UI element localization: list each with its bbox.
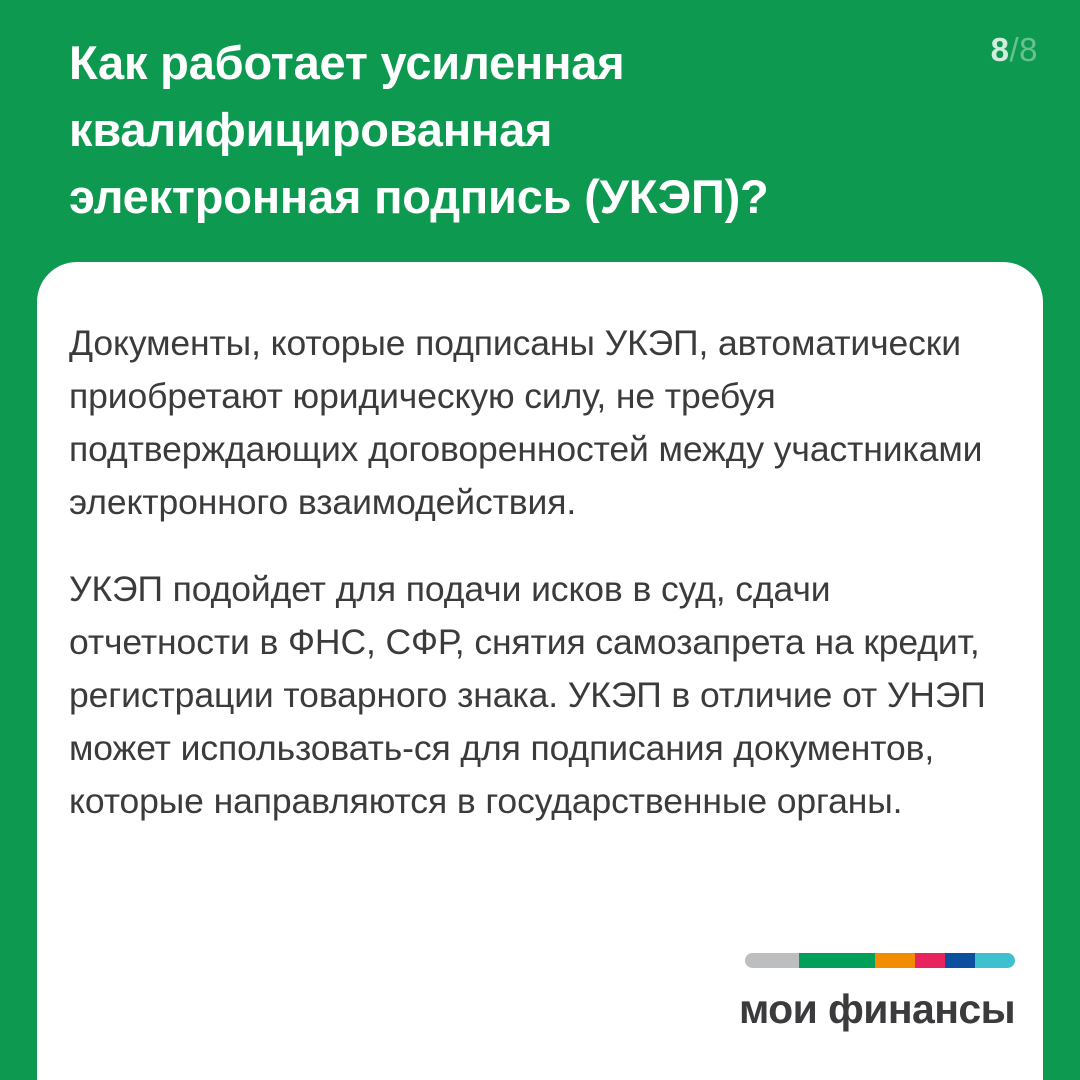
segment-green	[799, 953, 875, 968]
brand-logo-color-bar	[745, 953, 1015, 968]
slide-counter: 8/8	[991, 30, 1038, 70]
segment-orange	[875, 953, 916, 968]
content-paragraph: Документы, которые подписаны УКЭП, автом…	[69, 317, 989, 529]
slide-header: Как работает усиленная квалифицированная…	[0, 0, 1080, 262]
brand-logo: мои финансы	[737, 953, 1015, 1032]
content-paragraph: УКЭП подойдет для подачи исков в суд, сд…	[69, 563, 989, 828]
slide-counter-separator: /	[1009, 31, 1019, 68]
slide-counter-total: 8	[1019, 31, 1038, 68]
brand-logo-wordmark: мои финансы	[737, 986, 1015, 1032]
content-card-body: Документы, которые подписаны УКЭП, автом…	[69, 317, 989, 828]
segment-blue	[945, 953, 975, 968]
segment-gray	[745, 953, 799, 968]
slide-counter-current: 8	[991, 31, 1010, 68]
content-card: Документы, которые подписаны УКЭП, автом…	[37, 262, 1043, 1080]
slide-root: Как работает усиленная квалифицированная…	[0, 0, 1080, 1080]
segment-pink	[915, 953, 945, 968]
page-title: Как работает усиленная квалифицированная…	[69, 29, 949, 230]
segment-cyan	[975, 953, 1016, 968]
